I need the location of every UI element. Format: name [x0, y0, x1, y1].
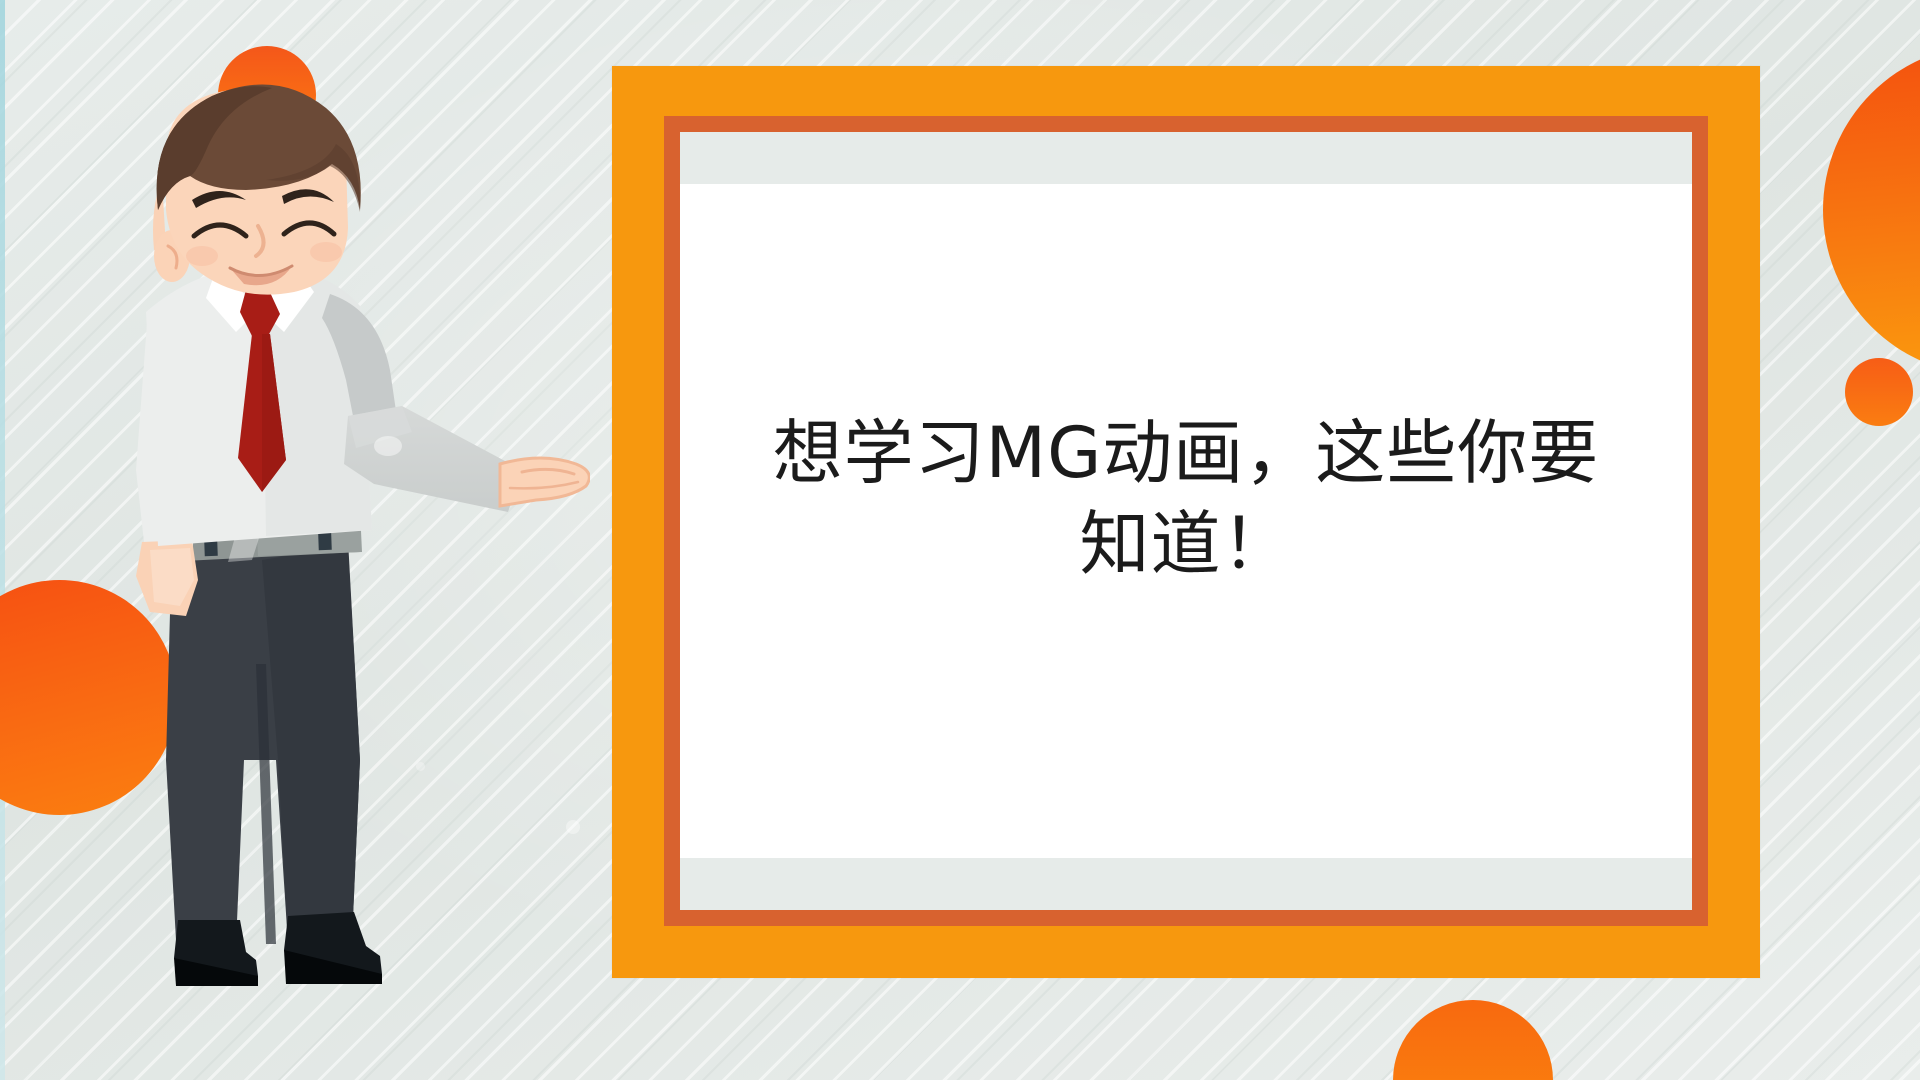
whiteboard-text-area: 想学习MG动画，这些你要 知道！ — [680, 184, 1692, 858]
whiteboard-frame[interactable]: 想学习MG动画，这些你要 知道！ — [612, 66, 1760, 978]
whiteboard-mat: 想学习MG动画，这些你要 知道！ — [680, 132, 1692, 910]
whiteboard-inner-border: 想学习MG动画，这些你要 知道！ — [664, 116, 1708, 926]
left-edge-accent-line — [0, 0, 5, 1080]
slide-headline: 想学习MG动画，这些你要 知道！ — [773, 408, 1600, 590]
decorative-circle-right-small — [1845, 358, 1913, 426]
character-open-hand — [500, 458, 589, 506]
character-head — [153, 84, 361, 294]
character-trousers — [166, 540, 360, 944]
presenter-character-illustration — [30, 60, 590, 1080]
whiteboard-surface[interactable]: 想学习MG动画，这些你要 知道！ — [680, 184, 1692, 858]
slide-canvas: 想学习MG动画，这些你要 知道！ — [0, 0, 1920, 1080]
character-shoes — [174, 912, 382, 986]
